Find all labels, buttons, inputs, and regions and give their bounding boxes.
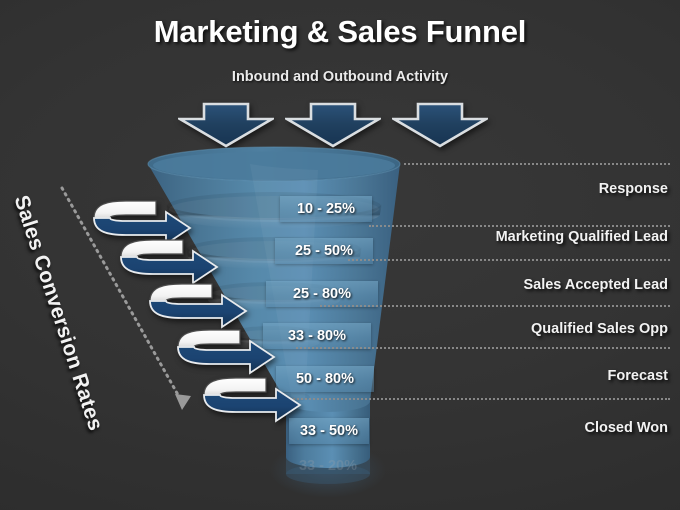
stage-label-sales-accepted-lead: Sales Accepted Lead <box>523 277 668 293</box>
leader-line-sales-accepted-lead <box>348 259 670 261</box>
leader-line-qualified-sales-opp <box>320 305 670 307</box>
leader-line-closed-won <box>290 398 670 400</box>
stage-label-marketing-qualified-lead: Marketing Qualified Lead <box>496 229 668 245</box>
stage-label-closed-won: Closed Won <box>584 420 668 436</box>
leader-line-marketing-qualified-lead <box>369 225 670 227</box>
leader-line-forecast <box>296 347 670 349</box>
stage-rate-qualified-sales-opp: 33 - 80% <box>263 323 371 349</box>
stage-rate-sales-accepted-lead: 25 - 80% <box>266 281 378 307</box>
funnel-infographic: Marketing & Sales Funnel Inbound and Out… <box>0 0 680 510</box>
conversion-arrow-5 <box>196 375 304 423</box>
leader-line-response <box>404 163 670 165</box>
stage-rate-ghost-reflection: 33 - 20% <box>285 458 371 474</box>
stage-label-qualified-sales-opp: Qualified Sales Opp <box>531 321 668 337</box>
stage-rate-response: 10 - 25% <box>280 196 372 222</box>
stage-label-response: Response <box>599 181 668 197</box>
stage-label-forecast: Forecast <box>608 368 668 384</box>
